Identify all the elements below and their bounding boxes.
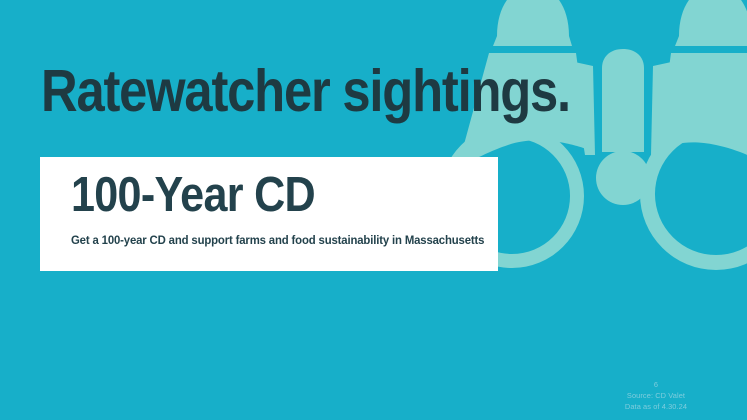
- highlight-card: 100-Year CD Get a 100-year CD and suppor…: [40, 157, 498, 271]
- page-title: Ratewatcher sightings.: [41, 62, 570, 121]
- page-number: 6: [581, 380, 731, 391]
- slide-canvas: Ratewatcher sightings. 100-Year CD Get a…: [0, 0, 747, 420]
- card-subtitle: Get a 100-year CD and support farms and …: [71, 234, 484, 247]
- source-label: Source: CD Valet: [581, 391, 731, 402]
- card-title: 100-Year CD: [71, 171, 315, 220]
- footer-note: 6 Source: CD Valet Data as of 4.30.24: [581, 380, 731, 413]
- data-as-of-label: Data as of 4.30.24: [581, 402, 731, 413]
